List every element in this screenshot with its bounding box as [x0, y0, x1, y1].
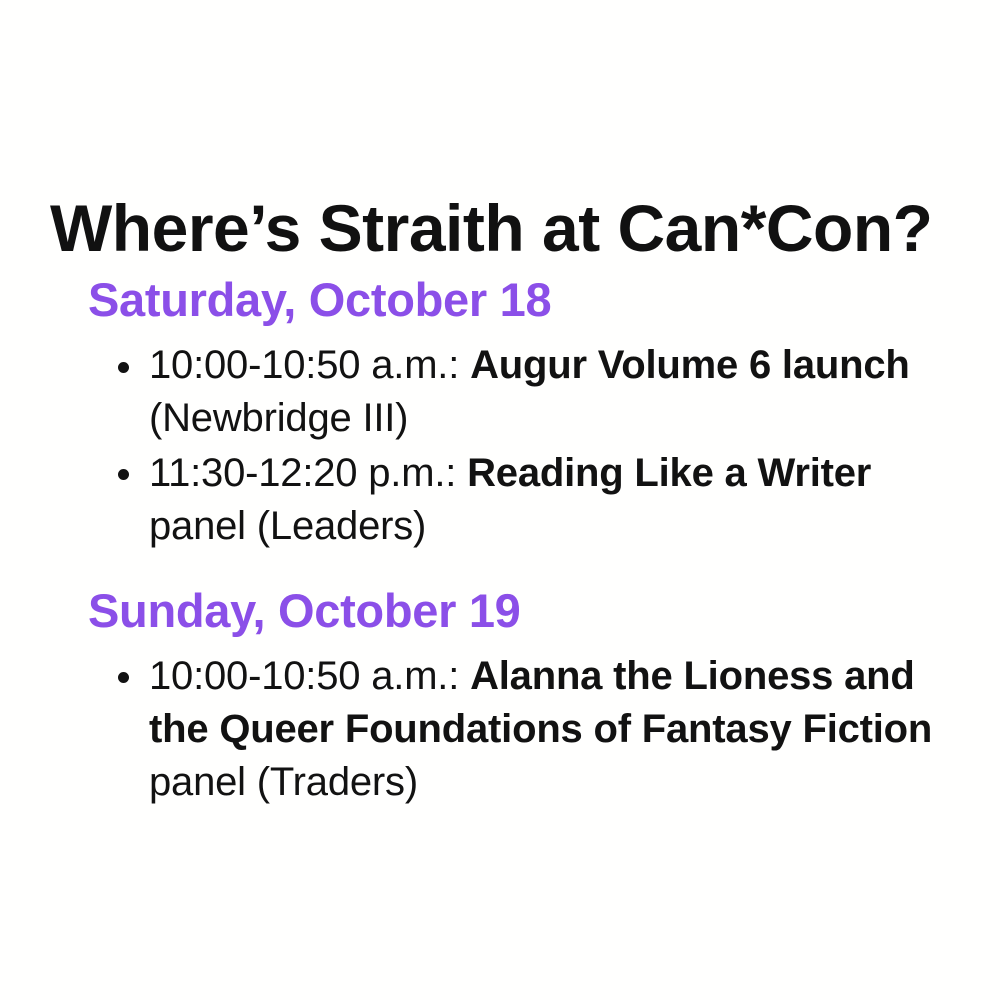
list-item: 10:00-10:50 a.m.: Alanna the Lioness and… [0, 650, 1000, 808]
event-venue: (Newbridge III) [149, 396, 408, 440]
day-section-sunday: Sunday, October 19 10:00-10:50 a.m.: Ala… [0, 583, 1000, 809]
event-time: 10:00-10:50 a.m.: [149, 654, 470, 698]
event-time: 11:30-12:20 p.m.: [149, 451, 467, 495]
event-title: Augur Volume 6 launch [470, 343, 910, 387]
event-list-sunday: 10:00-10:50 a.m.: Alanna the Lioness and… [0, 650, 1000, 808]
poster-canvas: Where’s Straith at Can*Con? Saturday, Oc… [0, 0, 1000, 1000]
day-section-saturday: Saturday, October 18 10:00-10:50 a.m.: A… [0, 272, 1000, 553]
schedule-list: Saturday, October 18 10:00-10:50 a.m.: A… [0, 272, 1000, 810]
bullet-icon [118, 469, 129, 480]
event-venue: panel (Traders) [149, 760, 418, 804]
bullet-icon [118, 362, 129, 373]
list-item: 11:30-12:20 p.m.: Reading Like a Writer … [0, 447, 1000, 553]
event-time: 10:00-10:50 a.m.: [149, 343, 470, 387]
day-heading-sunday: Sunday, October 19 [88, 583, 1000, 638]
list-item: 10:00-10:50 a.m.: Augur Volume 6 launch … [0, 339, 1000, 445]
event-venue: panel (Leaders) [149, 504, 426, 548]
event-list-saturday: 10:00-10:50 a.m.: Augur Volume 6 launch … [0, 339, 1000, 552]
event-title: Reading Like a Writer [467, 451, 871, 495]
day-heading-saturday: Saturday, October 18 [88, 272, 1000, 327]
page-title: Where’s Straith at Can*Con? [50, 194, 960, 263]
bullet-icon [118, 672, 129, 683]
